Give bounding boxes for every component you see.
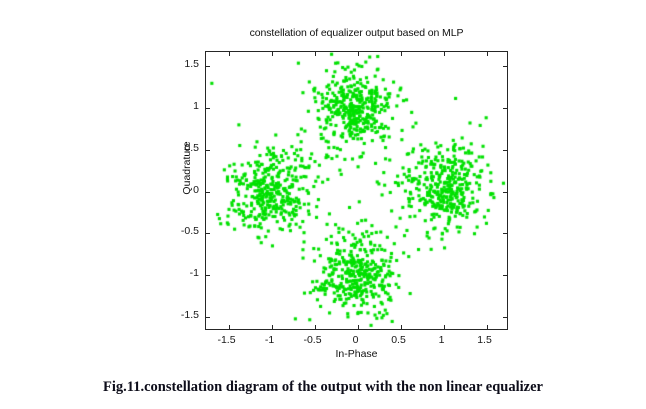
- x-tick-label: 0: [336, 334, 376, 346]
- x-tick-mark: [358, 325, 359, 329]
- x-tick-label: -1.5: [207, 334, 247, 346]
- x-tick-label: 0.5: [379, 334, 419, 346]
- y-tick-mark: [206, 317, 210, 318]
- x-tick-mark: [487, 325, 488, 329]
- y-tick-label: 0.5: [165, 142, 199, 154]
- y-tick-mark: [206, 233, 210, 234]
- x-tick-label: 1.5: [465, 334, 505, 346]
- y-tick-mark: [206, 192, 210, 193]
- x-tick-mark: [272, 52, 273, 56]
- x-tick-mark: [487, 52, 488, 56]
- x-tick-mark: [315, 325, 316, 329]
- y-tick-mark: [206, 150, 210, 151]
- y-axis-label: Quadrature: [181, 128, 193, 208]
- y-tick-label: -0.5: [165, 225, 199, 237]
- scatter-plot-canvas: [206, 52, 507, 329]
- figure-caption: Fig.11.constellation diagram of the outp…: [0, 379, 646, 396]
- y-tick-mark: [206, 275, 210, 276]
- y-tick-label: 0: [165, 184, 199, 196]
- x-tick-mark: [444, 52, 445, 56]
- chart-title: constellation of equalizer output based …: [205, 27, 508, 39]
- x-tick-label: -0.5: [293, 334, 333, 346]
- x-tick-label: -1: [250, 334, 290, 346]
- plot-frame: [205, 51, 508, 330]
- y-tick-label: -1: [165, 267, 199, 279]
- x-tick-mark: [272, 325, 273, 329]
- y-tick-mark: [206, 66, 210, 67]
- y-tick-mark: [503, 317, 507, 318]
- x-tick-mark: [315, 52, 316, 56]
- y-tick-label: 1: [165, 100, 199, 112]
- x-tick-mark: [229, 52, 230, 56]
- x-tick-mark: [401, 52, 402, 56]
- y-tick-label: 1.5: [165, 58, 199, 70]
- y-tick-label: -1.5: [165, 309, 199, 321]
- y-tick-mark: [503, 233, 507, 234]
- x-tick-mark: [229, 325, 230, 329]
- y-tick-mark: [503, 150, 507, 151]
- x-tick-mark: [358, 52, 359, 56]
- y-tick-mark: [503, 108, 507, 109]
- y-tick-mark: [503, 192, 507, 193]
- figure-container: constellation of equalizer output based …: [0, 0, 646, 409]
- x-tick-mark: [444, 325, 445, 329]
- y-tick-mark: [503, 66, 507, 67]
- y-tick-mark: [206, 108, 210, 109]
- y-tick-mark: [503, 275, 507, 276]
- x-axis-label: In-Phase: [205, 348, 508, 360]
- x-tick-label: 1: [422, 334, 462, 346]
- x-tick-mark: [401, 325, 402, 329]
